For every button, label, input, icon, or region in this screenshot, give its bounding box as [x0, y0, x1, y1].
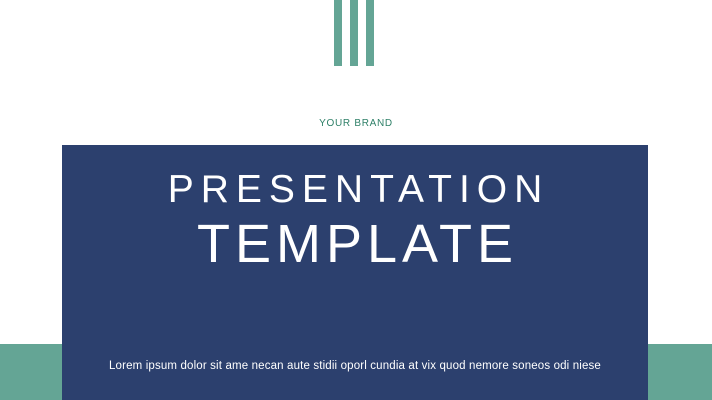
title-line-secondary: TEMPLATE [62, 213, 648, 275]
accent-bar-1-icon [334, 0, 342, 66]
title-line-primary: PRESENTATION [62, 167, 648, 213]
brand-label: YOUR BRAND [0, 117, 712, 131]
subtitle-text: Lorem ipsum dolor sit ame necan aute sti… [62, 358, 648, 374]
accent-bars-group [334, 0, 374, 66]
accent-bar-3-icon [366, 0, 374, 66]
presentation-title-slide: YOUR BRAND PRESENTATION TEMPLATE Lorem i… [0, 0, 712, 400]
title-panel: PRESENTATION TEMPLATE Lorem ipsum dolor … [62, 145, 648, 400]
title-block: PRESENTATION TEMPLATE [62, 167, 648, 275]
accent-bar-2-icon [350, 0, 358, 66]
